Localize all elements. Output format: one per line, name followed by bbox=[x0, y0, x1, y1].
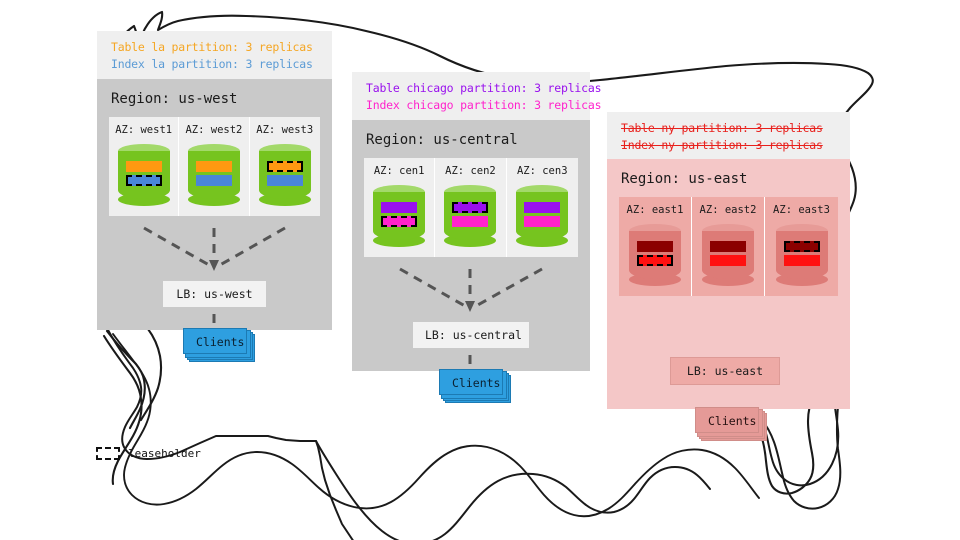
partition-header-us-west: Table la partition: 3 replicas Index la … bbox=[97, 31, 332, 79]
az-cell-east3[interactable]: AZ: east3 bbox=[765, 197, 838, 296]
az-label-cen2: AZ: cen2 bbox=[445, 165, 496, 177]
az-label-cen3: AZ: cen3 bbox=[517, 165, 568, 177]
dashed-rect-icon bbox=[96, 447, 120, 460]
partition-line-index-la: Index la partition: 3 replicas bbox=[111, 56, 320, 73]
replica-bar-index bbox=[524, 216, 560, 227]
az-cell-cen2[interactable]: AZ: cen2 bbox=[435, 158, 506, 257]
replica-bar-index-leaseholder bbox=[126, 175, 162, 186]
replica-bar-table bbox=[196, 161, 232, 172]
replica-bar-index bbox=[267, 175, 303, 186]
replica-bars-cen3 bbox=[516, 202, 568, 227]
clients-us-central[interactable]: Clients bbox=[439, 369, 511, 399]
replica-bar-index bbox=[196, 175, 232, 186]
replica-bars-west2 bbox=[188, 161, 240, 186]
az-row-us-west: AZ: west1 AZ: west2 bbox=[109, 117, 320, 216]
replica-bar-index bbox=[710, 255, 746, 266]
partition-header-us-east: Table ny partition: 3 replicas Index ny … bbox=[607, 112, 850, 159]
clients-box-us-west[interactable]: Clients bbox=[183, 328, 247, 354]
region-box-us-central: Region: us-central AZ: cen1 AZ: cen2 bbox=[352, 120, 590, 371]
partition-line-table-ny: Table ny partition: 3 replicas bbox=[621, 120, 838, 137]
node-cylinder-east3[interactable] bbox=[776, 224, 828, 286]
replica-bar-table-leaseholder bbox=[267, 161, 303, 172]
az-row-us-east: AZ: east1 AZ: east2 bbox=[619, 197, 838, 296]
replica-bars-cen1 bbox=[373, 202, 425, 227]
clients-us-east[interactable]: Clients bbox=[695, 407, 767, 437]
partition-line-table-chicago: Table chicago partition: 3 replicas bbox=[366, 80, 578, 97]
node-cylinder-cen3[interactable] bbox=[516, 185, 568, 247]
partition-line-index-ny: Index ny partition: 3 replicas bbox=[621, 137, 838, 154]
node-cylinder-west1[interactable] bbox=[118, 144, 170, 206]
clients-box-us-east[interactable]: Clients bbox=[695, 407, 759, 433]
partition-line-index-chicago: Index chicago partition: 3 replicas bbox=[366, 97, 578, 114]
az-cell-east2[interactable]: AZ: east2 bbox=[692, 197, 765, 296]
region-title-us-central: Region: us-central bbox=[366, 132, 578, 148]
az-cell-cen1[interactable]: AZ: cen1 bbox=[364, 158, 435, 257]
replica-bar-index-leaseholder bbox=[637, 255, 673, 266]
replica-bar-table bbox=[710, 241, 746, 252]
az-cell-cen3[interactable]: AZ: cen3 bbox=[507, 158, 578, 257]
az-label-west3: AZ: west3 bbox=[256, 124, 313, 136]
az-label-west1: AZ: west1 bbox=[115, 124, 172, 136]
replica-bar-index bbox=[784, 255, 820, 266]
az-cell-west2[interactable]: AZ: west2 bbox=[179, 117, 249, 216]
region-panel-us-central: Table chicago partition: 3 replicas Inde… bbox=[352, 72, 590, 371]
replica-bar-table bbox=[381, 202, 417, 213]
replica-bars-cen2 bbox=[444, 202, 496, 227]
replica-bars-east1 bbox=[629, 241, 681, 266]
partition-line-table-la: Table la partition: 3 replicas bbox=[111, 39, 320, 56]
az-label-east2: AZ: east2 bbox=[700, 204, 757, 216]
lb-box-us-west[interactable]: LB: us-west bbox=[162, 280, 267, 308]
region-panel-us-east: Table ny partition: 3 replicas Index ny … bbox=[607, 112, 850, 409]
az-label-east3: AZ: east3 bbox=[773, 204, 830, 216]
node-cylinder-east2[interactable] bbox=[702, 224, 754, 286]
node-cylinder-west3[interactable] bbox=[259, 144, 311, 206]
legend-label: leaseholder bbox=[128, 447, 201, 460]
legend-leaseholder: leaseholder bbox=[96, 447, 201, 460]
replica-bar-table-leaseholder bbox=[784, 241, 820, 252]
replica-bars-west1 bbox=[118, 161, 170, 186]
az-label-cen1: AZ: cen1 bbox=[374, 165, 425, 177]
clients-box-us-central[interactable]: Clients bbox=[439, 369, 503, 395]
partition-header-us-central: Table chicago partition: 3 replicas Inde… bbox=[352, 72, 590, 120]
arrow-head bbox=[465, 301, 475, 312]
replica-bar-table bbox=[126, 161, 162, 172]
replica-bar-table bbox=[524, 202, 560, 213]
replica-bar-index-leaseholder bbox=[381, 216, 417, 227]
region-box-us-east: Region: us-east AZ: east1 AZ: east2 bbox=[607, 159, 850, 409]
node-cylinder-west2[interactable] bbox=[188, 144, 240, 206]
lb-box-us-central[interactable]: LB: us-central bbox=[412, 321, 530, 349]
replica-bar-table-leaseholder bbox=[452, 202, 488, 213]
az-cell-east1[interactable]: AZ: east1 bbox=[619, 197, 692, 296]
region-panel-us-west: Table la partition: 3 replicas Index la … bbox=[97, 31, 332, 330]
az-cell-west1[interactable]: AZ: west1 bbox=[109, 117, 179, 216]
node-cylinder-east1[interactable] bbox=[629, 224, 681, 286]
az-row-us-central: AZ: cen1 AZ: cen2 bbox=[364, 158, 578, 257]
az-cell-west3[interactable]: AZ: west3 bbox=[250, 117, 320, 216]
node-cylinder-cen1[interactable] bbox=[373, 185, 425, 247]
region-title-us-east: Region: us-east bbox=[621, 171, 838, 187]
region-title-us-west: Region: us-west bbox=[111, 91, 320, 107]
lb-box-us-east[interactable]: LB: us-east bbox=[670, 357, 780, 385]
region-box-us-west: Region: us-west AZ: west1 AZ: west2 bbox=[97, 79, 332, 330]
replica-bars-east3 bbox=[776, 241, 828, 266]
replica-bar-index bbox=[452, 216, 488, 227]
az-label-east1: AZ: east1 bbox=[627, 204, 684, 216]
replica-bars-east2 bbox=[702, 241, 754, 266]
arrow-head bbox=[209, 260, 219, 271]
az-label-west2: AZ: west2 bbox=[185, 124, 242, 136]
replica-bars-west3 bbox=[259, 161, 311, 186]
node-cylinder-cen2[interactable] bbox=[444, 185, 496, 247]
replica-bar-table bbox=[637, 241, 673, 252]
clients-us-west[interactable]: Clients bbox=[183, 328, 255, 358]
